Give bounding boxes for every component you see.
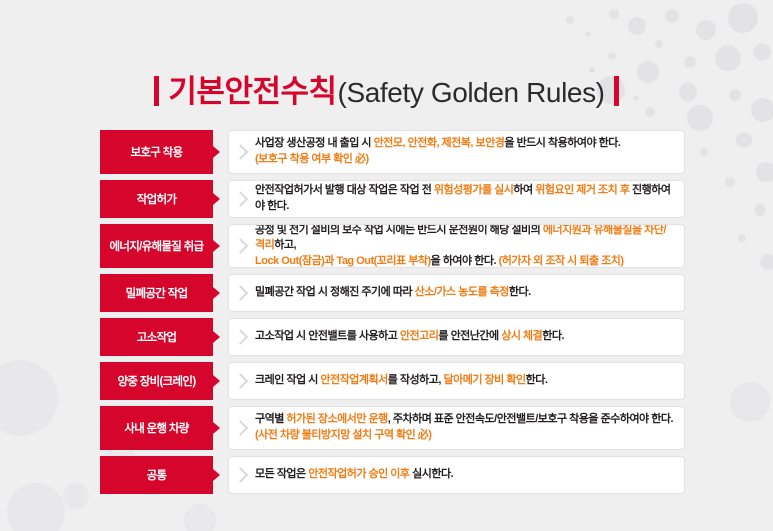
rule-text-highlight: 안전모, 안전화, 제전복, 보안경 [374, 137, 505, 149]
rule-text-plain: 고소작업 시 안전밸트를 사용하고 [255, 330, 400, 342]
rule-row: 공통모든 작업은 안전작업허가 승인 이후 실시한다. [100, 456, 685, 494]
rule-text-highlight: 산소/가스 농도를 측정 [415, 286, 509, 298]
rule-text: 사업장 생산공정 내 출입 시 안전모, 안전화, 제전복, 보안경을 반드시 … [255, 136, 620, 167]
rule-text-highlight: 허가된 장소에서만 운행 [286, 413, 387, 425]
rule-text: 크레인 작업 시 안전작업계획서를 작성하고, 달아메기 장비 확인한다. [255, 373, 547, 389]
rule-text-highlight: 안전고리 [400, 330, 438, 342]
rule-label-3[interactable]: 에너지/유해물질 취급 [100, 224, 213, 268]
rule-text-plain: 을 하여야 한다. [431, 255, 499, 267]
rule-card-4: 밀폐공간 작업 시 정해진 주기에 따라 산소/가스 농도를 측정한다. [228, 274, 685, 312]
rule-text-line: 안전작업허가서 발행 대상 작업은 작업 전 위험성평가를 실시하여 위험요인 … [255, 183, 674, 214]
rule-text: 고소작업 시 안전밸트를 사용하고 안전고리를 안전난간에 상시 체결한다. [255, 329, 564, 345]
rule-text-highlight: (허가자 외 조작 시 퇴출 조치) [499, 255, 624, 267]
rule-row: 보호구 착용사업장 생산공정 내 출입 시 안전모, 안전화, 제전복, 보안경… [100, 130, 685, 174]
rule-text-line: 크레인 작업 시 안전작업계획서를 작성하고, 달아메기 장비 확인한다. [255, 373, 547, 389]
rule-text-plain: 를 작성하고, [388, 374, 444, 386]
rule-card-1: 사업장 생산공정 내 출입 시 안전모, 안전화, 제전복, 보안경을 반드시 … [228, 130, 685, 174]
rule-row: 에너지/유해물질 취급공정 및 전기 설비의 보수 작업 시에는 반드시 운전원… [100, 224, 685, 268]
rule-text-plain: 를 안전난간에 [438, 330, 501, 342]
title-bar-right [614, 76, 619, 106]
rule-text-line: Lock Out(잠금)과 Tag Out(꼬리표 부착)을 하여야 한다. (… [255, 254, 674, 268]
rule-row: 밀폐공간 작업밀폐공간 작업 시 정해진 주기에 따라 산소/가스 농도를 측정… [100, 274, 685, 312]
rule-label-7[interactable]: 사내 운행 차량 [100, 406, 213, 450]
rule-text-plain: 안전작업허가서 발행 대상 작업은 작업 전 [255, 184, 434, 196]
rule-text-line: 모든 작업은 안전작업허가 승인 이후 실시한다. [255, 467, 453, 483]
rule-text-plain: 하고, [274, 239, 296, 251]
rule-label-2[interactable]: 작업허가 [100, 180, 213, 218]
rule-text-plain: 한다. [542, 330, 564, 342]
rule-card-8: 모든 작업은 안전작업허가 승인 이후 실시한다. [228, 456, 685, 494]
rule-text-highlight: (보호구 착용 여부 확인 必) [255, 153, 369, 165]
rule-text-plain: 밀폐공간 작업 시 정해진 주기에 따라 [255, 286, 415, 298]
rule-text-highlight: Lock Out(잠금)과 Tag Out(꼬리표 부착) [255, 255, 431, 267]
rule-text: 모든 작업은 안전작업허가 승인 이후 실시한다. [255, 467, 453, 483]
rule-text-highlight: (사전 차량 불티방지망 설치 구역 확인 必) [255, 429, 431, 441]
page-title-korean: 기본안전수칙 [168, 66, 336, 111]
rule-text-line: 구역별 허가된 장소에서만 운행, 주차하며 표준 안전속도/안전밸트/보호구 … [255, 412, 673, 428]
rule-text-plain: 한다. [509, 286, 531, 298]
page-title-english: (Safety Golden Rules) [338, 77, 605, 109]
rule-row: 고소작업고소작업 시 안전밸트를 사용하고 안전고리를 안전난간에 상시 체결한… [100, 318, 685, 356]
rule-label-1[interactable]: 보호구 착용 [100, 130, 213, 174]
rule-row: 양중 장비(크레인)크레인 작업 시 안전작업계획서를 작성하고, 달아메기 장… [100, 362, 685, 400]
rule-text-plain: 크레인 작업 시 [255, 374, 320, 386]
title-bar-left [154, 76, 159, 106]
rule-text-line: (보호구 착용 여부 확인 必) [255, 152, 620, 168]
page-title: 기본안전수칙(Safety Golden Rules) [0, 66, 773, 111]
rule-row: 사내 운행 차량구역별 허가된 장소에서만 운행, 주차하며 표준 안전속도/안… [100, 406, 685, 450]
rule-text-line: 사업장 생산공정 내 출입 시 안전모, 안전화, 제전복, 보안경을 반드시 … [255, 136, 620, 152]
rule-text-line: 밀폐공간 작업 시 정해진 주기에 따라 산소/가스 농도를 측정한다. [255, 285, 531, 301]
rule-text-plain: 을 반드시 착용하여야 한다. [504, 137, 620, 149]
rule-text-highlight: 상시 체결 [501, 330, 542, 342]
rule-card-6: 크레인 작업 시 안전작업계획서를 작성하고, 달아메기 장비 확인한다. [228, 362, 685, 400]
rule-text-plain: 모든 작업은 [255, 468, 308, 480]
rule-label-8[interactable]: 공통 [100, 456, 213, 494]
rule-card-2: 안전작업허가서 발행 대상 작업은 작업 전 위험성평가를 실시하여 위험요인 … [228, 180, 685, 218]
rule-text-line: 공정 및 전기 설비의 보수 작업 시에는 반드시 운전원이 해당 설비의 에너… [255, 224, 674, 254]
rule-text: 공정 및 전기 설비의 보수 작업 시에는 반드시 운전원이 해당 설비의 에너… [255, 224, 674, 268]
safety-rules-list: 보호구 착용사업장 생산공정 내 출입 시 안전모, 안전화, 제전복, 보안경… [100, 130, 685, 500]
rule-text: 밀폐공간 작업 시 정해진 주기에 따라 산소/가스 농도를 측정한다. [255, 285, 531, 301]
rule-text-plain: 하여 [513, 184, 535, 196]
rule-text-plain: , 주차하며 표준 안전속도/안전밸트/보호구 착용을 준수하여야 한다. [388, 413, 673, 425]
rule-card-7: 구역별 허가된 장소에서만 운행, 주차하며 표준 안전속도/안전밸트/보호구 … [228, 406, 685, 450]
rule-card-5: 고소작업 시 안전밸트를 사용하고 안전고리를 안전난간에 상시 체결한다. [228, 318, 685, 356]
rule-text-highlight: 위험성평가를 실시 [434, 184, 514, 196]
rule-row: 작업허가안전작업허가서 발행 대상 작업은 작업 전 위험성평가를 실시하여 위… [100, 180, 685, 218]
rule-text-highlight: 위험요인 제거 조치 후 [535, 184, 632, 196]
rule-text-plain: 실시한다. [412, 468, 453, 480]
rule-text: 구역별 허가된 장소에서만 운행, 주차하며 표준 안전속도/안전밸트/보호구 … [255, 412, 673, 443]
rule-text-plain: 한다. [526, 374, 548, 386]
rule-label-5[interactable]: 고소작업 [100, 318, 213, 356]
rule-text-highlight: 안전작업계획서 [320, 374, 387, 386]
rule-text-plain: 구역별 [255, 413, 286, 425]
rule-text-plain: 공정 및 전기 설비의 보수 작업 시에는 반드시 운전원이 해당 설비의 [255, 224, 543, 236]
rule-text: 안전작업허가서 발행 대상 작업은 작업 전 위험성평가를 실시하여 위험요인 … [255, 183, 674, 214]
rule-label-4[interactable]: 밀폐공간 작업 [100, 274, 213, 312]
rule-text-line: 고소작업 시 안전밸트를 사용하고 안전고리를 안전난간에 상시 체결한다. [255, 329, 564, 345]
rule-text-plain: 사업장 생산공정 내 출입 시 [255, 137, 374, 149]
rule-card-3: 공정 및 전기 설비의 보수 작업 시에는 반드시 운전원이 해당 설비의 에너… [228, 224, 685, 268]
rule-text-highlight: 안전작업허가 승인 이후 [308, 468, 412, 480]
rule-text-line: (사전 차량 불티방지망 설치 구역 확인 必) [255, 428, 673, 444]
rule-label-6[interactable]: 양중 장비(크레인) [100, 362, 213, 400]
rule-text-highlight: 달아메기 장비 확인 [444, 374, 526, 386]
